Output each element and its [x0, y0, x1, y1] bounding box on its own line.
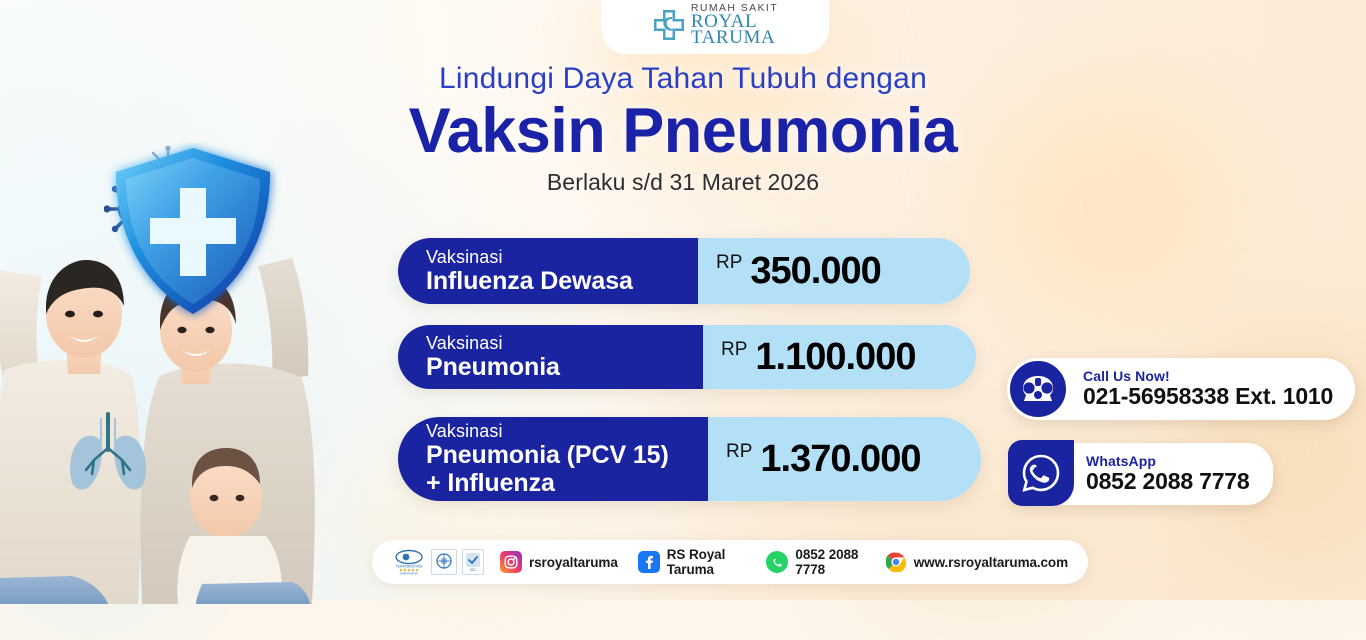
logo-line-3: TARUMA: [691, 28, 778, 47]
instagram-icon: [500, 551, 522, 573]
price-value: 350.000: [750, 250, 880, 293]
website-link[interactable]: www.rsroyaltaruma.com: [885, 551, 1068, 573]
price-row-label: Vaksinasi Pneumonia: [398, 325, 703, 389]
instagram-handle: rsroyaltaruma: [529, 555, 618, 570]
headline-block: Lindungi Daya Tahan Tubuh dengan Vaksin …: [0, 62, 1366, 196]
telephone-icon: [1007, 358, 1069, 420]
whatsapp-icon: [766, 551, 788, 573]
whatsapp-footer-number: 0852 2088 7778: [795, 547, 864, 577]
whatsapp-number: 0852 2088 7778: [1086, 469, 1249, 495]
price-eyebrow: Vaksinasi: [426, 247, 680, 268]
price-row[interactable]: Vaksinasi Pneumonia RP 1.100.000: [398, 325, 976, 389]
accreditation-badge-1: TERAKREDITASI ★★★★★ PARIPURNA: [392, 549, 426, 575]
price-name: Influenza Dewasa: [426, 268, 680, 296]
whatsapp-contact-card[interactable]: WhatsApp 0852 2088 7778: [1012, 443, 1273, 505]
validity-text: Berlaku s/d 31 Maret 2026: [0, 169, 1366, 196]
price-row[interactable]: Vaksinasi Influenza Dewasa RP 350.000: [398, 238, 970, 304]
lungs-icon: [60, 410, 156, 496]
whatsapp-footer-link[interactable]: 0852 2088 7778: [766, 547, 864, 577]
currency-label: RP: [726, 441, 752, 463]
headline-subtitle-top: Lindungi Daya Tahan Tubuh dengan: [0, 62, 1366, 96]
accreditation-badge-2: [431, 549, 457, 575]
hospital-logo-badge: RUMAH SAKIT ROYAL TARUMA: [601, 0, 829, 54]
currency-label: RP: [716, 252, 742, 274]
price-row-amount: RP 350.000: [698, 238, 970, 304]
price-row-label: Vaksinasi Pneumonia (PCV 15) + Influenza: [398, 417, 708, 501]
website-url: www.rsroyaltaruma.com: [914, 555, 1068, 570]
chrome-icon: [885, 551, 907, 573]
price-row-amount: RP 1.100.000: [703, 325, 976, 389]
currency-label: RP: [721, 339, 747, 361]
page-title: Vaksin Pneumonia: [0, 98, 1366, 164]
accreditation-badge-3: ISO: [462, 549, 484, 575]
price-row[interactable]: Vaksinasi Pneumonia (PCV 15) + Influenza…: [398, 417, 981, 501]
price-eyebrow: Vaksinasi: [426, 333, 685, 354]
price-name: Pneumonia (PCV 15) + Influenza: [426, 442, 690, 497]
whatsapp-icon: [1008, 440, 1074, 506]
price-value: 1.100.000: [755, 336, 915, 379]
medical-cross-logo-icon: [652, 8, 686, 42]
certification-badges: TERAKREDITASI ★★★★★ PARIPURNA ISO: [392, 549, 484, 575]
whatsapp-card-label: WhatsApp: [1086, 453, 1249, 469]
phone-number: 021-56958338 Ext. 1010: [1083, 384, 1333, 410]
phone-card-label: Call Us Now!: [1083, 368, 1333, 384]
svg-text:ISO: ISO: [470, 568, 476, 572]
price-value: 1.370.000: [760, 438, 920, 481]
facebook-icon: [638, 551, 660, 573]
facebook-link[interactable]: RS Royal Taruma: [638, 547, 747, 577]
price-name: Pneumonia: [426, 354, 685, 382]
svg-text:PARIPURNA: PARIPURNA: [400, 572, 417, 575]
instagram-link[interactable]: rsroyaltaruma: [500, 551, 618, 573]
phone-contact-card[interactable]: Call Us Now! 021-56958338 Ext. 1010: [1008, 358, 1355, 420]
footer-bar: TERAKREDITASI ★★★★★ PARIPURNA ISO: [372, 540, 1088, 584]
price-row-label: Vaksinasi Influenza Dewasa: [398, 238, 698, 304]
price-row-amount: RP 1.370.000: [708, 417, 981, 501]
facebook-handle: RS Royal Taruma: [667, 547, 747, 577]
price-eyebrow: Vaksinasi: [426, 421, 690, 442]
